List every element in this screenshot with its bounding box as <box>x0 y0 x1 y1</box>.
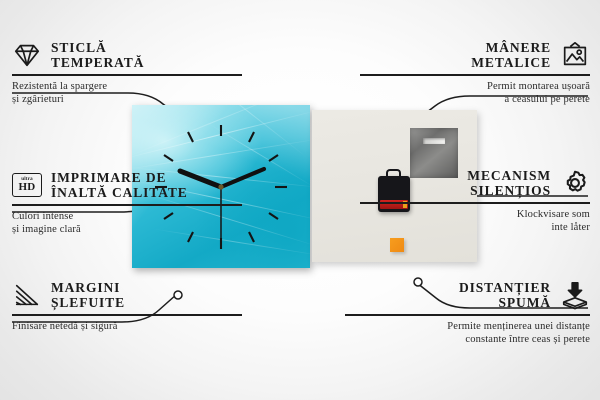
feature-tempered-glass: STICLĂ TEMPERATĂ Rezistentă la spargere … <box>12 40 242 106</box>
feature-title: STICLĂ TEMPERATĂ <box>51 40 144 70</box>
feature-subtitle: Permit montarea ușoară a ceasului pe per… <box>360 80 590 106</box>
divider <box>12 314 242 316</box>
feature-title: DISTANȚIER SPUMĂ <box>459 280 551 310</box>
feature-subtitle: Rezistentă la spargere și zgârieturi <box>12 80 242 106</box>
feature-title: IMPRIMARE DE ÎNALTĂ CALITATE <box>51 170 188 200</box>
infographic-canvas: STICLĂ TEMPERATĂ Rezistentă la spargere … <box>0 0 600 400</box>
polished-edge-icon <box>12 280 42 310</box>
feature-title: MÂNERE METALICE <box>471 40 551 70</box>
hanger-slot <box>423 138 445 144</box>
feature-silent-mechanism: MECANISM SILENȚIOS Klockvisare som inte … <box>360 168 590 234</box>
divider <box>12 204 242 206</box>
divider <box>12 74 242 76</box>
feature-hd-print: ultra HD IMPRIMARE DE ÎNALTĂ CALITATE Cu… <box>12 170 242 236</box>
feature-subtitle: Klockvisare som inte låter <box>360 208 590 234</box>
picture-frame-hanger-icon <box>560 40 590 70</box>
gear-icon <box>560 168 590 198</box>
feature-foam-spacer: DISTANȚIER SPUMĂ Permite menținerea unei… <box>345 280 590 346</box>
feature-title: MARGINI ȘLEFUITE <box>51 280 125 310</box>
feature-title: MECANISM SILENȚIOS <box>467 168 551 198</box>
feature-subtitle: Permite menținerea unei distanțe constan… <box>345 320 590 346</box>
feature-subtitle: Culori intense și imagine clară <box>12 210 242 236</box>
hd-badge-large-label: HD <box>18 182 35 193</box>
foam-spacer-pad <box>390 238 404 252</box>
ultra-hd-badge-icon: ultra HD <box>12 173 42 197</box>
foam-spacer-arrow-icon <box>560 280 590 310</box>
feature-subtitle: Finisare netedă și sigură <box>12 320 242 333</box>
divider <box>360 202 590 204</box>
feature-polished-edges: MARGINI ȘLEFUITE Finisare netedă și sigu… <box>12 280 242 333</box>
feature-metal-handles: MÂNERE METALICE Permit montarea ușoară a… <box>360 40 590 106</box>
divider <box>345 314 590 316</box>
diamond-icon <box>12 40 42 70</box>
divider <box>360 74 590 76</box>
